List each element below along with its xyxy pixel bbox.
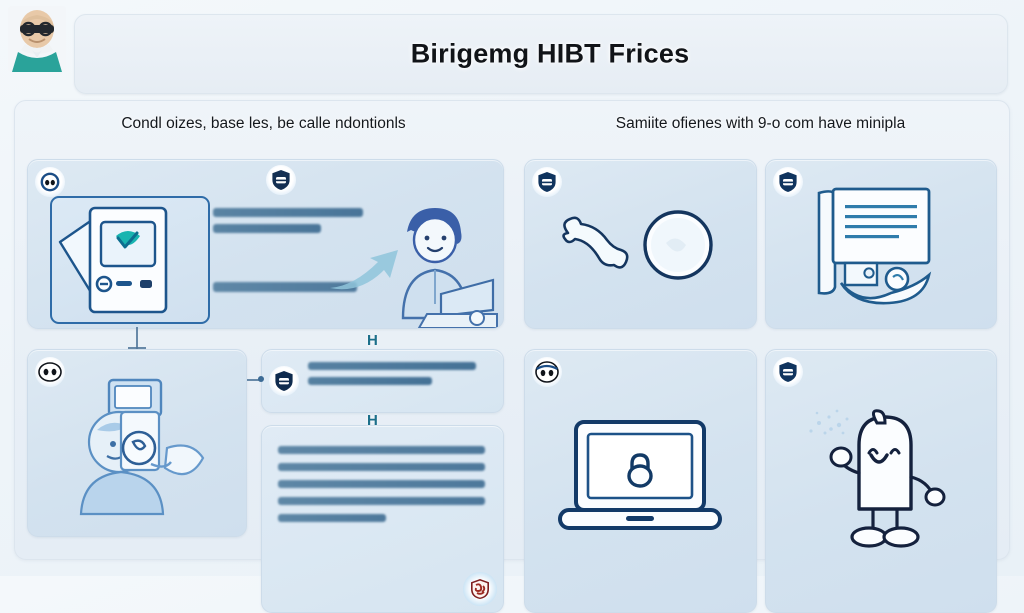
card-right-4[interactable]	[765, 349, 998, 613]
eyes-badge-icon	[35, 357, 65, 387]
shield-badge-icon	[532, 167, 562, 197]
card-bottom-left[interactable]	[27, 349, 247, 537]
connector-cap	[128, 347, 146, 349]
card-right-3[interactable]	[524, 349, 757, 613]
left-column: Condl oizes, base les, be calle ndontion…	[15, 101, 512, 559]
connector-dot	[258, 376, 264, 382]
shield-badge-icon	[269, 366, 299, 396]
card-bottom-middle-top[interactable]	[261, 349, 504, 413]
right-column-subtitle: Samiite ofienes with 9-o com have minipl…	[512, 115, 1009, 133]
card-top-left-text-block-1	[213, 208, 363, 240]
content-panel: Condl oizes, base les, be calle ndontion…	[14, 100, 1010, 560]
header-panel: Birigemg HIBT Frices	[74, 14, 1008, 94]
device-screen-illustration	[50, 196, 210, 324]
h-glyph-bottom: H	[367, 413, 377, 428]
right-column: Samiite ofienes with 9-o com have minipl…	[512, 101, 1009, 559]
page-title: Birigemg HIBT Frices	[75, 39, 1007, 70]
h-glyph-top: H	[367, 333, 377, 348]
card-top-left[interactable]	[27, 159, 504, 329]
card-bottom-middle-top-text	[308, 362, 491, 392]
warning-badge-icon	[463, 572, 497, 606]
shield-badge-icon	[773, 357, 803, 387]
mascot-character-illustration	[766, 350, 997, 612]
connector-vertical	[136, 327, 138, 349]
card-bottom-middle-bottom-text	[278, 446, 485, 531]
eye-badge-icon	[35, 167, 65, 197]
card-right-1[interactable]	[524, 159, 757, 329]
person-at-desk-illustration	[367, 198, 504, 329]
page-root: Birigemg HIBT Frices Condl oizes, base l…	[0, 0, 1024, 576]
shield-badge-icon	[773, 167, 803, 197]
left-column-subtitle: Condl oizes, base les, be calle ndontion…	[15, 115, 512, 133]
laptop-with-lock-illustration	[525, 350, 756, 612]
user-avatar[interactable]	[8, 6, 66, 72]
shield-badge-icon	[266, 165, 296, 195]
eyes-badge-icon	[532, 357, 562, 387]
card-right-2[interactable]	[765, 159, 998, 329]
card-bottom-middle-bottom[interactable]	[261, 425, 504, 613]
